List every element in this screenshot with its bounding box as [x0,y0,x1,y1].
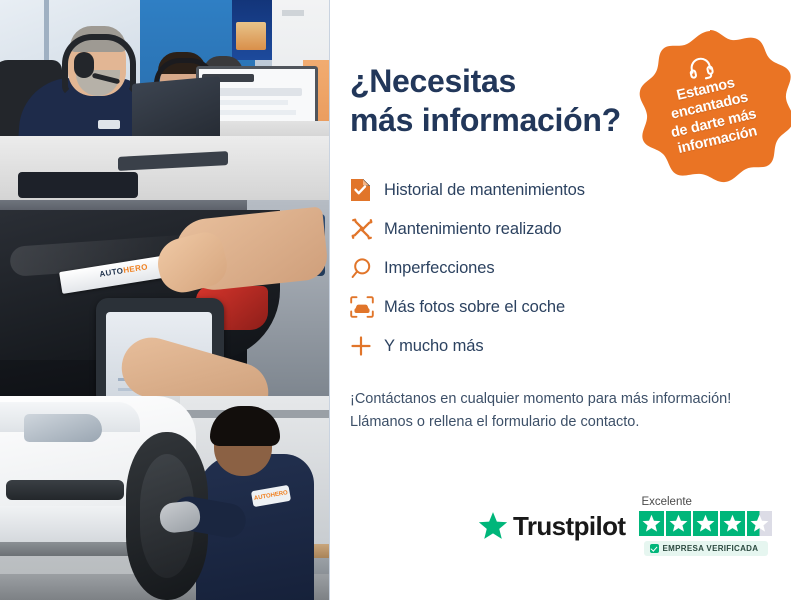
wrench-screwdriver-icon [350,217,384,241]
status-badge: EMPRESA VERIFICADA [644,541,769,556]
feature-label: Historial de mantenimientos [384,181,585,200]
headline-line-2: más información? [350,101,650,140]
badge-text: Estamos encantados de darte más informac… [662,72,762,159]
call-centre-agents-photo [0,0,329,200]
star-filled-2 [666,511,691,536]
trustpilot-score: Excelente EMPRESA VERIFICADA [639,496,772,556]
feature-label: Y mucho más [384,337,483,356]
trustpilot-brand: Trustpilot [513,511,625,542]
contact-text: ¡Contáctanos en cualquier momento para m… [350,388,770,435]
verified-label: EMPRESA VERIFICADA [663,544,759,553]
trustpilot-rating-label: Excelente [641,496,692,508]
status-badge-callout: Estamos encantados de darte más informac… [629,28,791,188]
list-item: Mantenimiento realizado [350,210,771,249]
info-banner: AUTOHERO AUTOHERO ¿Necesitas más informa… [0,0,799,600]
list-item: Más fotos sobre el coche [350,288,771,327]
magnifier-icon [350,257,384,280]
headline-line-1: ¿Necesitas [350,62,650,101]
ruler-brand-prefix: AUTO [99,266,124,279]
car-scan-icon [350,296,384,318]
feature-list: Historial de mantenimientos Mantenimient… [350,171,771,366]
document-check-icon [350,178,384,202]
star-filled-3 [693,511,718,536]
contact-line-1: ¡Contáctanos en cualquier momento para m… [350,388,770,411]
feature-label: Más fotos sobre el coche [384,298,565,317]
feature-label: Imperfecciones [384,259,494,278]
star-filled-1 [639,511,664,536]
info-content: ¿Necesitas más información? Historial de… [330,0,799,600]
plus-icon [350,335,384,357]
wheel-inspection-photo: AUTOHERO [0,396,329,600]
list-item: Imperfecciones [350,249,771,288]
trustpilot-star-icon [478,511,508,541]
photo-collage: AUTOHERO AUTOHERO [0,0,330,600]
page-title: ¿Necesitas más información? [350,62,650,141]
trustpilot-stars [639,511,772,536]
star-half-5 [747,511,772,536]
feature-label: Mantenimiento realizado [384,220,561,239]
list-item: Y mucho más [350,327,771,366]
green-check-icon [650,544,659,553]
car-body-measuring-photo: AUTOHERO [0,200,329,396]
contact-line-2: Llámanos o rellena el formulario de cont… [350,411,770,434]
trustpilot-logo[interactable]: Trustpilot [478,511,625,542]
ruler-brand-suffix: HERO [123,262,149,275]
star-filled-4 [720,511,745,536]
trustpilot-rating[interactable]: Trustpilot Excelente EMPRESA VERIFICADA [478,496,772,556]
